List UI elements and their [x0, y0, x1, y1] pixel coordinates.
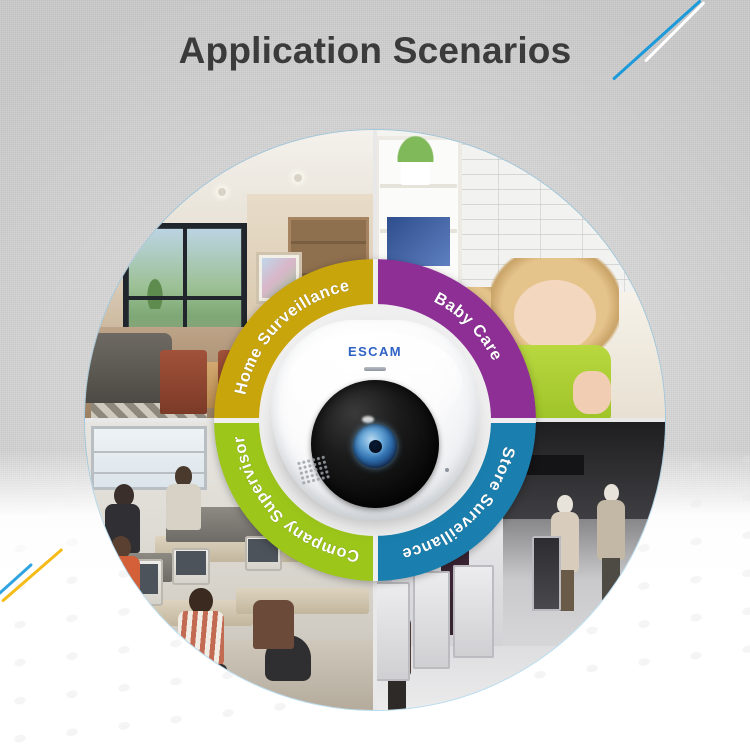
microphone-hole-icon [445, 468, 449, 472]
fisheye-lens-icon [311, 380, 439, 508]
camera-vent-slot [364, 367, 386, 371]
camera-product-image: ESCAM [271, 320, 479, 528]
promo-banner: Application Scenarios [0, 0, 750, 750]
camera-brand-logo: ESCAM [271, 344, 479, 359]
lens-highlight [362, 416, 374, 423]
lens-aperture [353, 424, 397, 468]
page-title: Application Scenarios [0, 30, 750, 72]
